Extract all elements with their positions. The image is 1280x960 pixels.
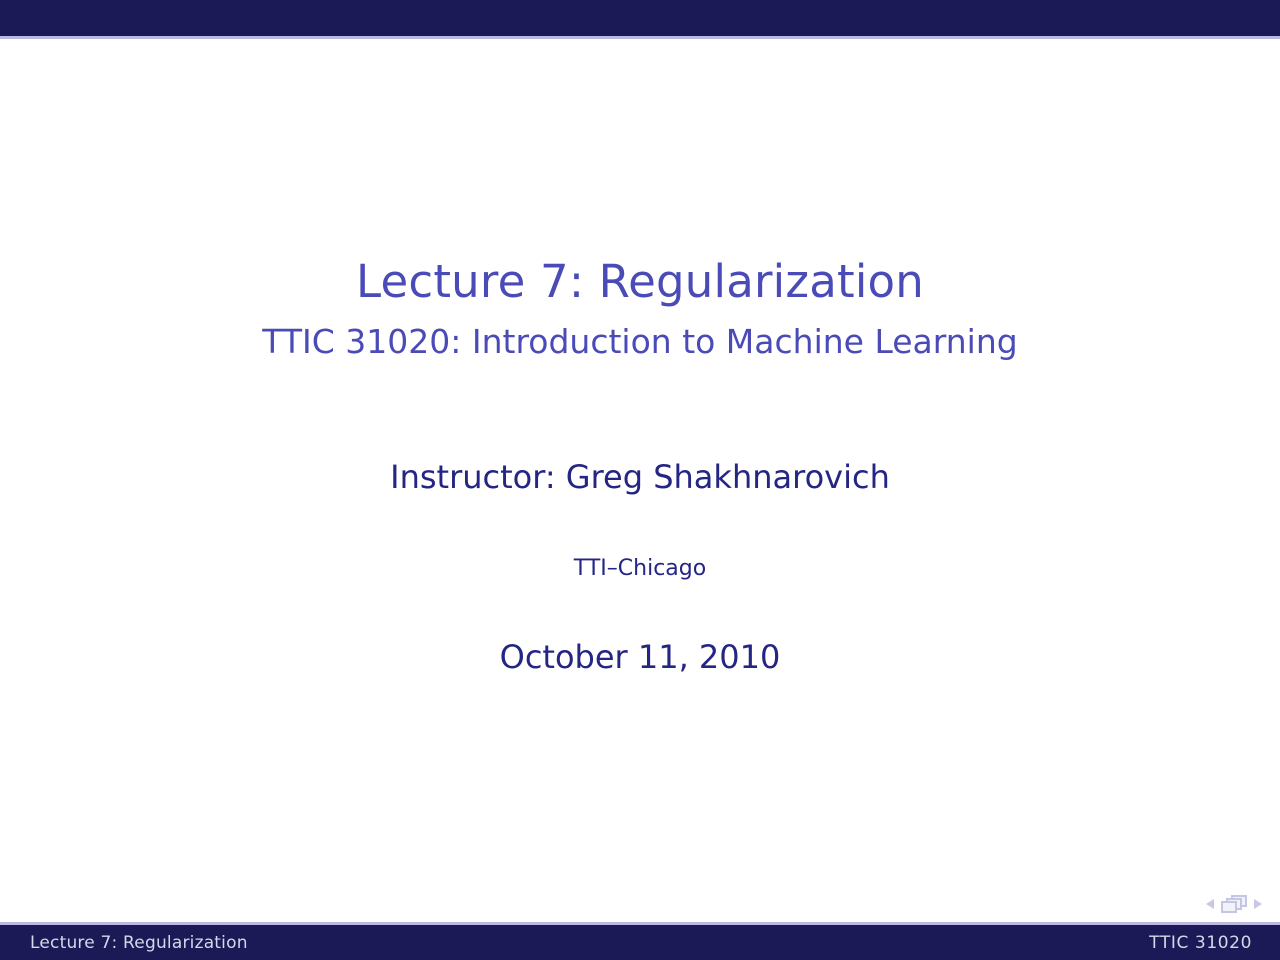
triangle-left-icon[interactable] bbox=[1206, 899, 1214, 909]
header-rule bbox=[0, 36, 1280, 39]
slide-subtitle: TTIC 31020: Introduction to Machine Lear… bbox=[0, 324, 1280, 360]
slide-title: Lecture 7: Regularization bbox=[0, 258, 1280, 307]
date-block: October 11, 2010 bbox=[0, 640, 1280, 675]
author-name: Instructor: Greg Shakhnarovich bbox=[0, 460, 1280, 495]
footer-title: Lecture 7: Regularization bbox=[30, 933, 248, 953]
institute-block: TTI–Chicago bbox=[0, 557, 1280, 581]
title-block: Lecture 7: Regularization TTIC 31020: In… bbox=[0, 258, 1280, 360]
beamer-navigation-symbols[interactable] bbox=[1206, 894, 1262, 914]
author-block: Instructor: Greg Shakhnarovich bbox=[0, 460, 1280, 495]
stacked-slides-icon[interactable] bbox=[1221, 895, 1247, 913]
footer-bar: Lecture 7: Regularization TTIC 31020 bbox=[0, 925, 1280, 960]
institute-name: TTI–Chicago bbox=[0, 557, 1280, 581]
presentation-slide: Lecture 7: Regularization TTIC 31020: In… bbox=[0, 0, 1280, 960]
stacked-slides-sheet-front bbox=[1221, 901, 1237, 913]
footer-course: TTIC 31020 bbox=[1149, 933, 1252, 953]
header-bar bbox=[0, 0, 1280, 36]
slide-date: October 11, 2010 bbox=[0, 640, 1280, 675]
triangle-right-icon[interactable] bbox=[1254, 899, 1262, 909]
